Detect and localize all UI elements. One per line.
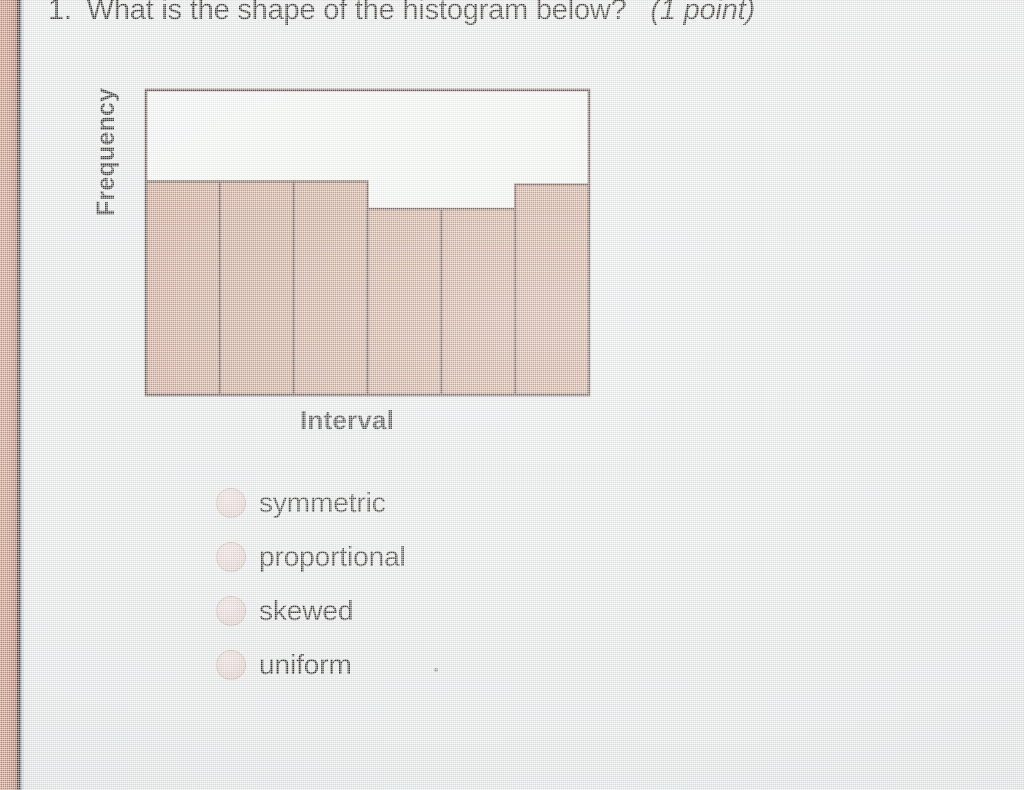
radio-button-icon[interactable] <box>216 650 246 680</box>
option-label[interactable]: skewed <box>259 595 353 627</box>
radio-button-icon[interactable] <box>216 488 246 518</box>
option-label[interactable]: uniform <box>259 649 352 681</box>
radio-button-icon[interactable] <box>216 542 246 572</box>
stray-speck <box>434 668 438 672</box>
spine-edge-highlight <box>21 0 24 790</box>
option-row[interactable]: uniform <box>216 638 406 692</box>
histogram-figure <box>0 0 1024 790</box>
book-spine-strip <box>0 0 17 790</box>
option-label[interactable]: symmetric <box>259 487 386 519</box>
option-row[interactable]: symmetric <box>216 476 406 530</box>
option-row[interactable]: proportional <box>216 530 406 584</box>
answer-options-list: symmetric proportional skewed uniform <box>216 476 406 692</box>
option-row[interactable]: skewed <box>216 584 406 638</box>
option-label[interactable]: proportional <box>259 541 406 573</box>
photographed-screen: 1. What is the shape of the histogram be… <box>0 0 1024 790</box>
radio-button-icon[interactable] <box>216 596 246 626</box>
